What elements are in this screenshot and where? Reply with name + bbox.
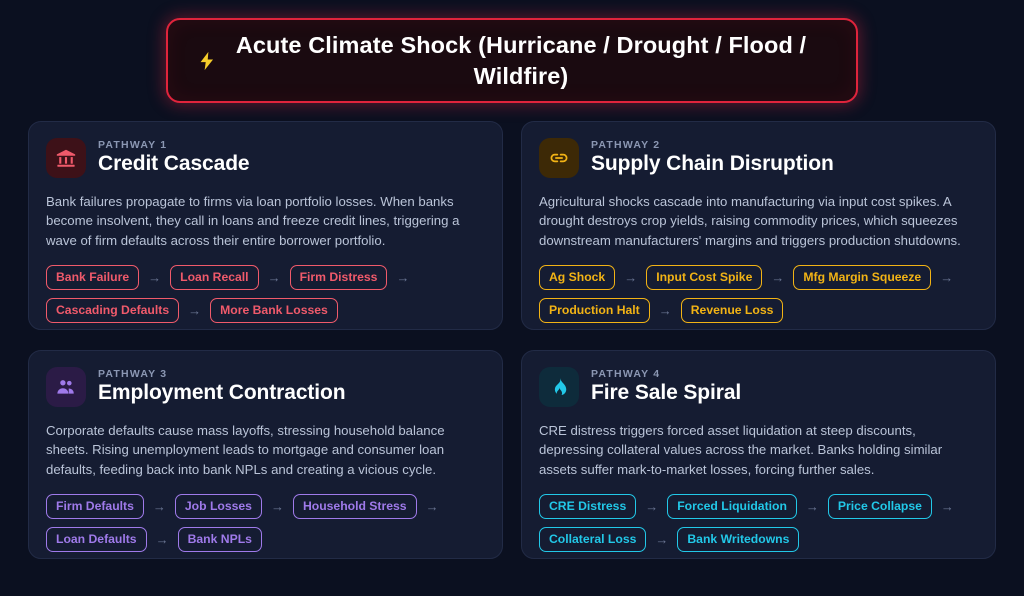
- card-header: PATHWAY 3 Employment Contraction: [46, 367, 484, 407]
- pathway-chain: CRE Distress → Forced Liquidation → Pric…: [539, 494, 977, 552]
- pathway-title: Credit Cascade: [98, 152, 250, 176]
- shock-banner: Acute Climate Shock (Hurricane / Drought…: [166, 18, 858, 103]
- chain-chip[interactable]: Bank NPLs: [178, 527, 262, 552]
- chain-chip[interactable]: Cascading Defaults: [46, 298, 179, 323]
- chain-arrow-icon: →: [151, 500, 168, 513]
- chain-arrow-icon: →: [653, 533, 670, 546]
- chain-chip[interactable]: Collateral Loss: [539, 527, 646, 552]
- pathway-label: PATHWAY 3: [98, 368, 345, 380]
- chain-arrow-icon: →: [394, 271, 411, 284]
- chain-arrow-icon: →: [424, 500, 441, 513]
- card-header: PATHWAY 2 Supply Chain Disruption: [539, 138, 977, 178]
- chain-arrow-icon: →: [269, 500, 286, 513]
- chain-chip[interactable]: Revenue Loss: [681, 298, 784, 323]
- card-header: PATHWAY 4 Fire Sale Spiral: [539, 367, 977, 407]
- card-header-text: PATHWAY 4 Fire Sale Spiral: [591, 368, 741, 405]
- chain-chip[interactable]: Mfg Margin Squeeze: [793, 265, 931, 290]
- chain-chip[interactable]: Input Cost Spike: [646, 265, 762, 290]
- chain-arrow-icon: →: [146, 271, 163, 284]
- chain-arrow-icon: →: [154, 533, 171, 546]
- chain-chip[interactable]: Production Halt: [539, 298, 650, 323]
- chain-arrow-icon: →: [186, 304, 203, 317]
- lightning-bolt-icon: [194, 48, 220, 74]
- pathway-label: PATHWAY 2: [591, 139, 834, 151]
- pathway-label: PATHWAY 4: [591, 368, 741, 380]
- pathway-card-3[interactable]: PATHWAY 3 Employment Contraction Corpora…: [28, 350, 503, 559]
- pathway-chain: Bank Failure → Loan Recall → Firm Distre…: [46, 265, 484, 323]
- chain-chip[interactable]: CRE Distress: [539, 494, 636, 519]
- chain-arrow-icon: →: [939, 500, 956, 513]
- chain-arrow-icon: →: [622, 271, 639, 284]
- users-icon: [46, 367, 86, 407]
- pathways-grid: PATHWAY 1 Credit Cascade Bank failures p…: [28, 121, 996, 559]
- bank-icon: [46, 138, 86, 178]
- card-header-text: PATHWAY 1 Credit Cascade: [98, 139, 250, 176]
- chain-chip[interactable]: Household Stress: [293, 494, 417, 519]
- card-header-text: PATHWAY 2 Supply Chain Disruption: [591, 139, 834, 176]
- chain-chip[interactable]: Job Losses: [175, 494, 262, 519]
- shock-title: Acute Climate Shock (Hurricane / Drought…: [234, 30, 834, 90]
- chain-chip[interactable]: Loan Recall: [170, 265, 258, 290]
- chain-chip[interactable]: Bank Writedowns: [677, 527, 799, 552]
- pathway-card-4[interactable]: PATHWAY 4 Fire Sale Spiral CRE distress …: [521, 350, 996, 559]
- pathway-chain: Ag Shock → Input Cost Spike → Mfg Margin…: [539, 265, 977, 323]
- pathway-chain: Firm Defaults → Job Losses → Household S…: [46, 494, 484, 552]
- page-root: Acute Climate Shock (Hurricane / Drought…: [0, 0, 1024, 596]
- flame-icon: [539, 367, 579, 407]
- pathway-title: Employment Contraction: [98, 381, 345, 405]
- chain-arrow-icon: →: [657, 304, 674, 317]
- chain-arrow-icon: →: [643, 500, 660, 513]
- card-header-text: PATHWAY 3 Employment Contraction: [98, 368, 345, 405]
- chain-chip[interactable]: Forced Liquidation: [667, 494, 797, 519]
- chain-chip[interactable]: Loan Defaults: [46, 527, 147, 552]
- pathway-description: Bank failures propagate to firms via loa…: [46, 192, 484, 250]
- chain-chip[interactable]: Ag Shock: [539, 265, 615, 290]
- chain-chip[interactable]: Firm Defaults: [46, 494, 144, 519]
- link-icon: [539, 138, 579, 178]
- pathway-label: PATHWAY 1: [98, 139, 250, 151]
- chain-arrow-icon: →: [769, 271, 786, 284]
- pathway-card-1[interactable]: PATHWAY 1 Credit Cascade Bank failures p…: [28, 121, 503, 330]
- chain-chip[interactable]: Price Collapse: [828, 494, 932, 519]
- pathway-description: Agricultural shocks cascade into manufac…: [539, 192, 977, 250]
- chain-chip[interactable]: Bank Failure: [46, 265, 139, 290]
- pathway-title: Supply Chain Disruption: [591, 152, 834, 176]
- card-header: PATHWAY 1 Credit Cascade: [46, 138, 484, 178]
- chain-arrow-icon: →: [266, 271, 283, 284]
- pathway-card-2[interactable]: PATHWAY 2 Supply Chain Disruption Agricu…: [521, 121, 996, 330]
- chain-chip[interactable]: More Bank Losses: [210, 298, 338, 323]
- chain-chip[interactable]: Firm Distress: [290, 265, 388, 290]
- chain-arrow-icon: →: [804, 500, 821, 513]
- pathway-title: Fire Sale Spiral: [591, 381, 741, 405]
- pathway-description: CRE distress triggers forced asset liqui…: [539, 421, 977, 479]
- chain-arrow-icon: →: [938, 271, 955, 284]
- pathway-description: Corporate defaults cause mass layoffs, s…: [46, 421, 484, 479]
